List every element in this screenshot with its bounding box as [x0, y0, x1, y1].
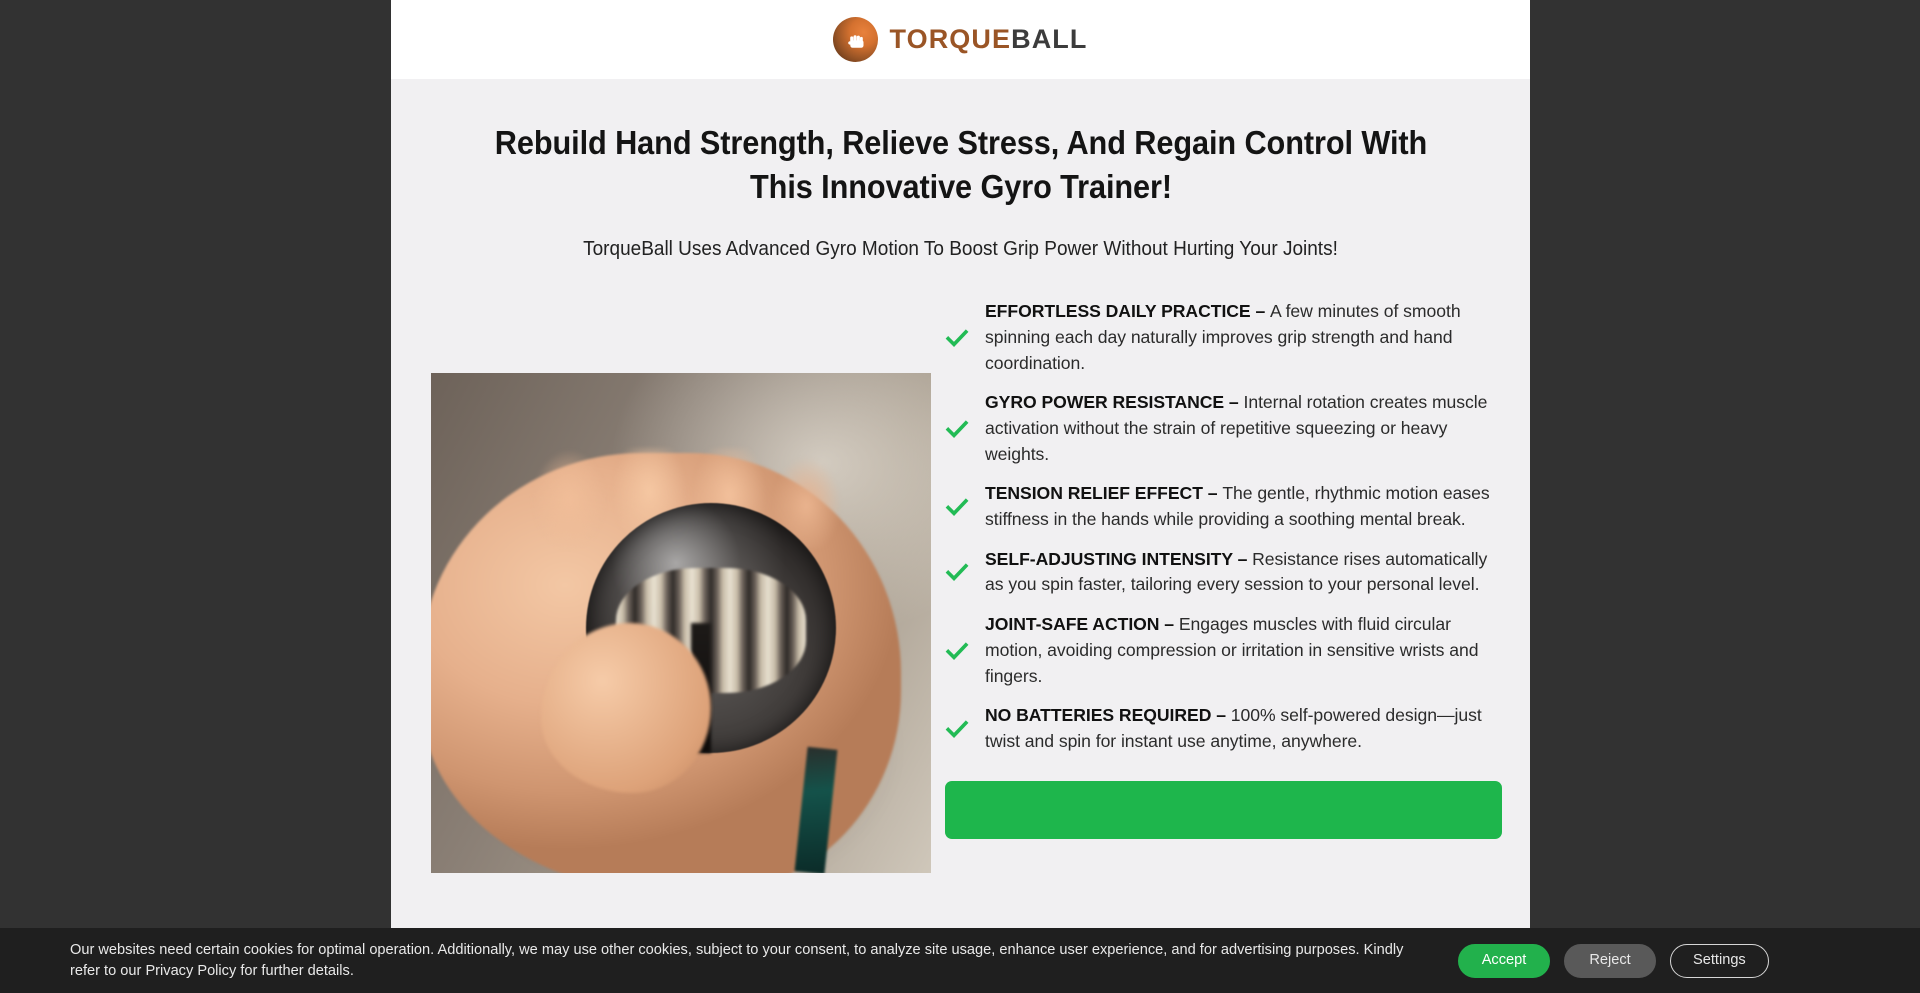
cookie-consent-text: Our websites need certain cookies for op…: [70, 940, 1430, 981]
list-item: SELF-ADJUSTING INTENSITY – Resistance ri…: [945, 547, 1502, 598]
brand-logo[interactable]: TORQUEBALL: [833, 17, 1087, 62]
list-item: GYRO POWER RESISTANCE – Internal rotatio…: [945, 390, 1502, 467]
list-item-text: GYRO POWER RESISTANCE – Internal rotatio…: [985, 390, 1502, 467]
page-subheadline: TorqueBall Uses Advanced Gyro Motion To …: [419, 235, 1501, 263]
primary-cta-button[interactable]: [945, 781, 1502, 839]
brand-wordmark-primary: TORQUE: [889, 24, 1011, 54]
cookie-consent-banner: Our websites need certain cookies for op…: [0, 928, 1920, 993]
list-item: NO BATTERIES REQUIRED – 100% self-powere…: [945, 703, 1502, 754]
cta-wrapper: [945, 769, 1502, 839]
check-icon: [945, 417, 969, 441]
content-section: EFFORTLESS DAILY PRACTICE – A few minute…: [391, 263, 1530, 873]
list-item-text: TENSION RELIEF EFFECT – The gentle, rhyt…: [985, 481, 1502, 532]
cookie-text-tail: for further details.: [236, 963, 354, 979]
list-item-text: EFFORTLESS DAILY PRACTICE – A few minute…: [985, 299, 1502, 376]
list-item: JOINT-SAFE ACTION – Engages muscles with…: [945, 612, 1502, 689]
list-item-lead: EFFORTLESS DAILY PRACTICE –: [985, 301, 1270, 321]
list-item-text: NO BATTERIES REQUIRED – 100% self-powere…: [985, 703, 1502, 754]
brand-wordmark: TORQUEBALL: [889, 26, 1087, 53]
list-item: EFFORTLESS DAILY PRACTICE – A few minute…: [945, 299, 1502, 376]
cookie-actions: Accept Reject Settings: [1458, 944, 1769, 978]
fist-icon: [833, 17, 878, 62]
check-icon: [945, 639, 969, 663]
reject-cookies-button[interactable]: Reject: [1564, 944, 1656, 978]
list-item-lead: JOINT-SAFE ACTION –: [985, 614, 1179, 634]
list-item-lead: TENSION RELIEF EFFECT –: [985, 483, 1222, 503]
product-video-still[interactable]: [431, 373, 931, 873]
page-headline: Rebuild Hand Strength, Relieve Stress, A…: [482, 121, 1440, 209]
check-icon: [945, 495, 969, 519]
page-container: TORQUEBALL Rebuild Hand Strength, Reliev…: [391, 0, 1530, 993]
list-item: TENSION RELIEF EFFECT – The gentle, rhyt…: [945, 481, 1502, 532]
list-item-lead: SELF-ADJUSTING INTENSITY –: [985, 549, 1252, 569]
site-header: TORQUEBALL: [391, 0, 1530, 79]
list-item-lead: NO BATTERIES REQUIRED –: [985, 705, 1231, 725]
brand-wordmark-secondary: BALL: [1011, 24, 1087, 54]
cookie-settings-button[interactable]: Settings: [1670, 944, 1769, 978]
accept-cookies-button[interactable]: Accept: [1458, 944, 1550, 978]
privacy-policy-link[interactable]: Privacy Policy: [145, 963, 236, 979]
check-icon: [945, 326, 969, 350]
features-column: EFFORTLESS DAILY PRACTICE – A few minute…: [911, 299, 1530, 873]
list-item-text: SELF-ADJUSTING INTENSITY – Resistance ri…: [985, 547, 1502, 598]
list-item-lead: GYRO POWER RESISTANCE –: [985, 392, 1244, 412]
list-item-text: JOINT-SAFE ACTION – Engages muscles with…: [985, 612, 1502, 689]
hero-section: Rebuild Hand Strength, Relieve Stress, A…: [391, 79, 1530, 263]
media-column: [391, 299, 911, 873]
feature-list: EFFORTLESS DAILY PRACTICE – A few minute…: [945, 299, 1502, 754]
check-icon: [945, 717, 969, 741]
check-icon: [945, 560, 969, 584]
